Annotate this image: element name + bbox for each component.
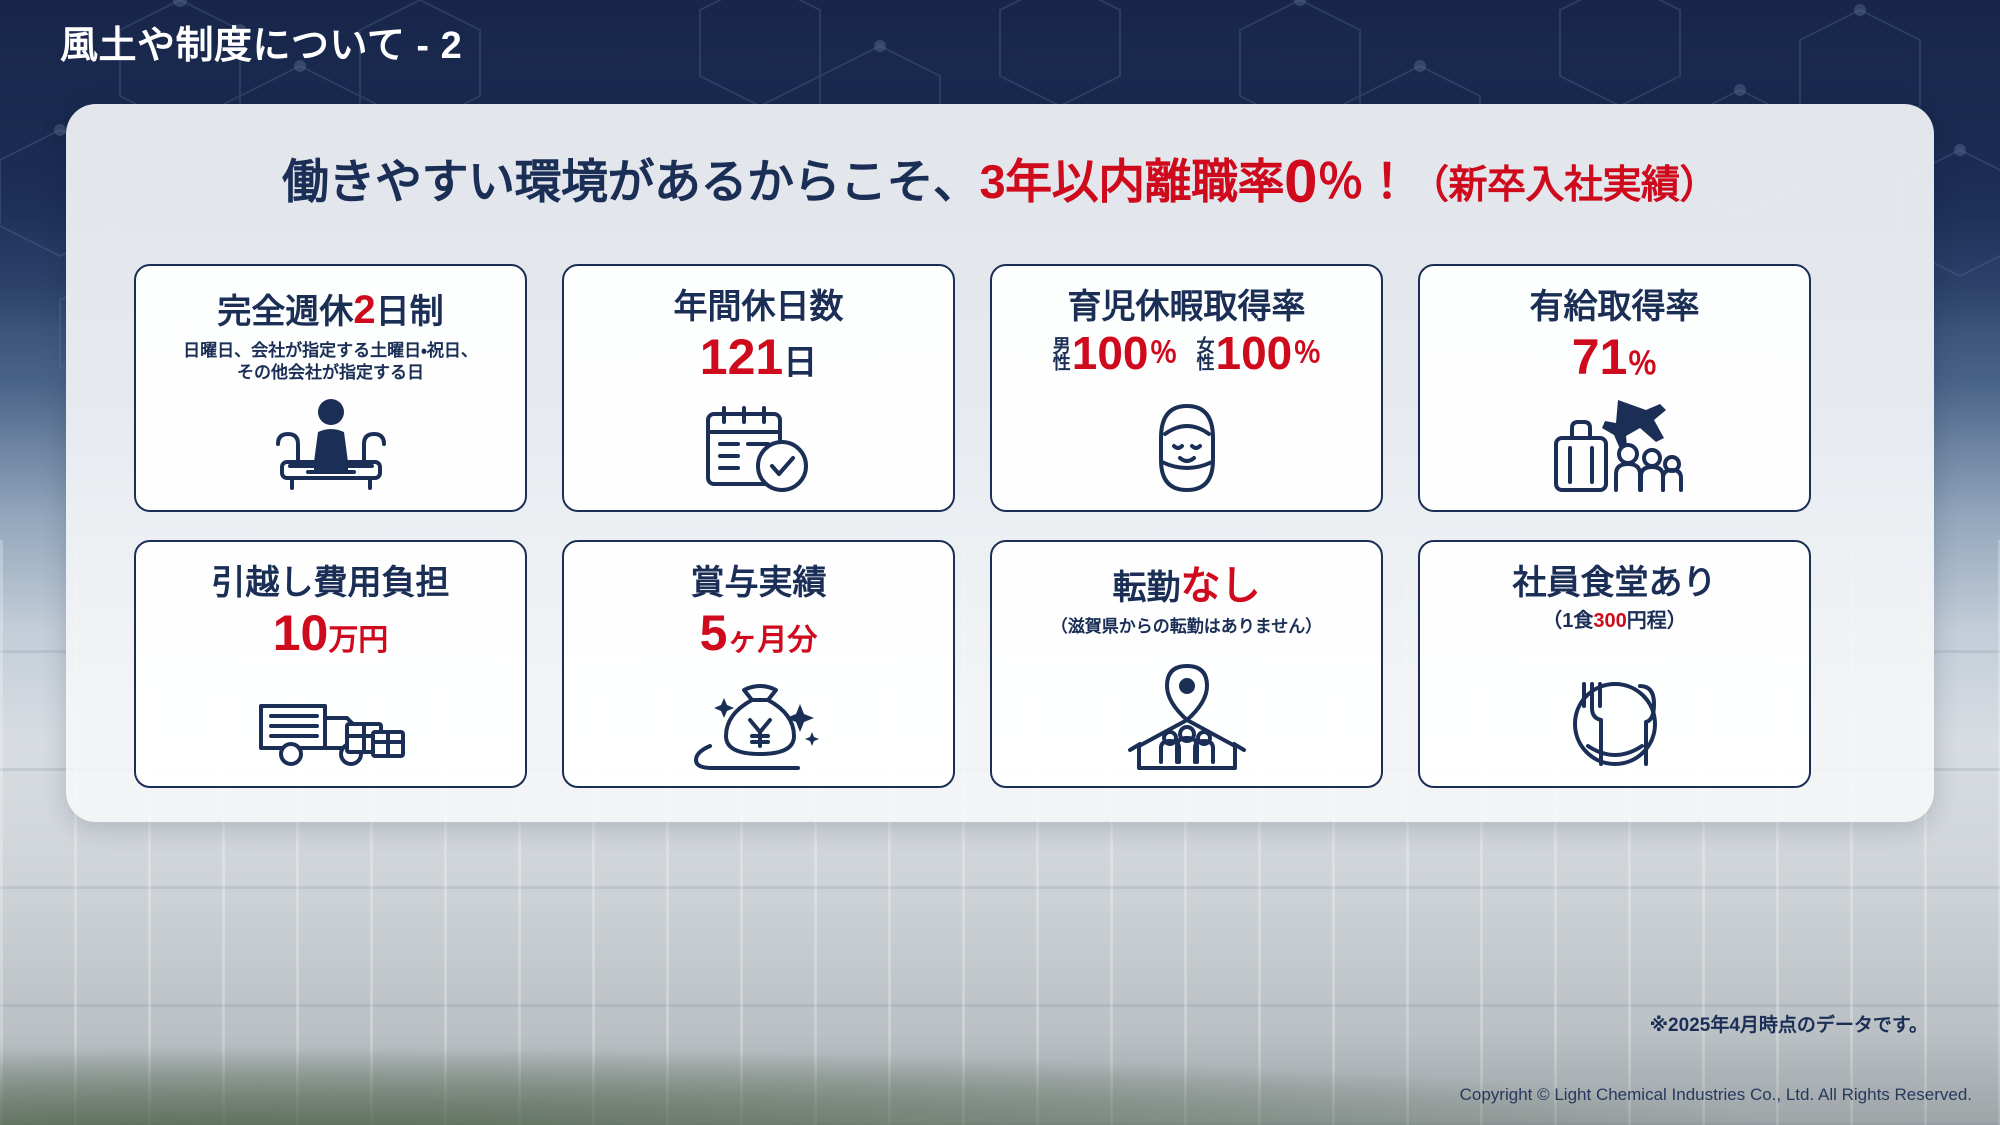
money-bag-yen-icon bbox=[684, 676, 834, 772]
card-title: 社員食堂あり bbox=[1513, 564, 1717, 602]
benefits-card-grid: 完全週休2日制 日曜日、会社が指定する土曜日・祝日、 その他会社が指定する日 bbox=[134, 264, 1866, 788]
card-icon-wrap bbox=[992, 400, 1381, 496]
card-note: （1食300円程） bbox=[1542, 604, 1687, 633]
headline-zero-value: 0 bbox=[1284, 148, 1317, 215]
card-value-unit: 日 bbox=[783, 344, 817, 382]
baby-swaddle-icon bbox=[1132, 400, 1242, 496]
card-note-price: 300 bbox=[1593, 610, 1626, 632]
card-title: 引越し費用負担 bbox=[212, 564, 450, 602]
stat-male-unit: ％ bbox=[1149, 339, 1177, 367]
gender-stats-row: 男性 100 ％ 女性 100 ％ bbox=[1052, 330, 1322, 376]
card-paid-leave-rate[interactable]: 有給取得率 71％ bbox=[1418, 264, 1811, 512]
card-subtext: 日曜日、会社が指定する土曜日・祝日、 その他会社が指定する日 bbox=[183, 340, 478, 385]
card-annual-holidays[interactable]: 年間休日数 121日 bbox=[562, 264, 955, 512]
card-title-post: 日制 bbox=[376, 293, 444, 331]
headline-paren-note: （新卒入社実績） bbox=[1410, 164, 1718, 207]
card-icon-wrap bbox=[1420, 676, 1809, 772]
card-icon-wrap bbox=[1420, 396, 1809, 496]
page-title: 風土や制度について - 2 bbox=[60, 14, 462, 69]
card-value-number: 121 bbox=[700, 329, 783, 385]
card-title-pre: 完全週休 bbox=[217, 293, 353, 331]
stat-female-label: 女性 bbox=[1196, 336, 1214, 370]
card-bonus-record[interactable]: 賞与実績 5ヶ月分 bbox=[562, 540, 955, 788]
copyright-text: Copyright © Light Chemical Industries Co… bbox=[1460, 1085, 1972, 1105]
card-value: 71％ bbox=[1572, 330, 1658, 385]
card-title: 完全週休2日制 bbox=[217, 288, 443, 333]
card-no-relocation[interactable]: 転勤なし （滋賀県からの転勤はありません） bbox=[990, 540, 1383, 788]
card-childcare-leave-rate[interactable]: 育児休暇取得率 男性 100 ％ 女性 100 ％ bbox=[990, 264, 1383, 512]
calendar-check-icon bbox=[694, 400, 824, 496]
card-employee-cafeteria[interactable]: 社員食堂あり （1食300円程） bbox=[1418, 540, 1811, 788]
moving-truck-boxes-icon bbox=[251, 686, 411, 772]
card-icon-wrap bbox=[564, 400, 953, 496]
stat-female: 女性 100 ％ bbox=[1196, 330, 1322, 376]
map-pin-family-icon bbox=[1112, 662, 1262, 772]
suitcase-plane-family-icon bbox=[1540, 396, 1690, 496]
data-as-of-note: ※2025年4月時点のデータです。 bbox=[1650, 1010, 1928, 1037]
card-title-pre: 転勤 bbox=[1113, 569, 1181, 607]
card-note-post: 円程） bbox=[1627, 610, 1687, 632]
headline-navy-text: 働きやすい環境があるからこそ、 bbox=[282, 155, 980, 208]
card-moving-cost-support[interactable]: 引越し費用負担 10万円 bbox=[134, 540, 527, 788]
headline-red-text: 3年以内離職率 bbox=[979, 155, 1284, 208]
fork-plate-spoon-icon bbox=[1540, 676, 1690, 772]
card-value-number: 5 bbox=[700, 605, 728, 661]
card-value-unit: 万円 bbox=[328, 624, 388, 657]
card-title: 育児休暇取得率 bbox=[1068, 288, 1306, 326]
stat-male: 男性 100 ％ bbox=[1052, 330, 1178, 376]
card-value: 5ヶ月分 bbox=[700, 606, 818, 661]
stat-female-value: 100 bbox=[1216, 330, 1293, 376]
card-title-highlight: なし bbox=[1181, 564, 1261, 608]
card-title: 年間休日数 bbox=[674, 288, 844, 326]
stat-male-label: 男性 bbox=[1052, 336, 1070, 370]
content-panel: 働きやすい環境があるからこそ、3年以内離職率0％！（新卒入社実績） 完全週休2日… bbox=[66, 104, 1934, 822]
card-note-pre: （1食 bbox=[1542, 610, 1593, 632]
slide-root: 風土や制度について - 2 働きやすい環境があるからこそ、3年以内離職率0％！（… bbox=[0, 0, 2000, 1125]
card-title: 有給取得率 bbox=[1530, 288, 1700, 326]
slide-header: 風土や制度について - 2 bbox=[60, 14, 462, 69]
stat-female-unit: ％ bbox=[1293, 339, 1321, 367]
card-value-number: 10 bbox=[273, 605, 329, 661]
card-subtext: （滋賀県からの転勤はありません） bbox=[1051, 616, 1323, 638]
card-value-unit: ％ bbox=[1627, 348, 1657, 381]
card-icon-wrap bbox=[564, 676, 953, 772]
card-value: 121日 bbox=[700, 330, 817, 385]
headline: 働きやすい環境があるからこそ、3年以内離職率0％！（新卒入社実績） bbox=[66, 152, 1934, 212]
card-title-highlight: 2 bbox=[353, 288, 375, 332]
card-icon-wrap bbox=[992, 662, 1381, 772]
card-value-unit: ヶ月分 bbox=[727, 624, 817, 657]
person-on-sofa-icon bbox=[256, 396, 406, 496]
card-icon-wrap bbox=[136, 686, 525, 772]
card-icon-wrap bbox=[136, 396, 525, 496]
card-value-number: 71 bbox=[1572, 329, 1628, 385]
card-value: 10万円 bbox=[273, 606, 389, 661]
card-full-two-day-weekend[interactable]: 完全週休2日制 日曜日、会社が指定する土曜日・祝日、 その他会社が指定する日 bbox=[134, 264, 527, 512]
card-title: 転勤なし bbox=[1113, 564, 1261, 609]
stat-male-value: 100 bbox=[1072, 330, 1149, 376]
card-title: 賞与実績 bbox=[691, 564, 827, 602]
headline-percent-exclaim: ％！ bbox=[1317, 155, 1410, 208]
